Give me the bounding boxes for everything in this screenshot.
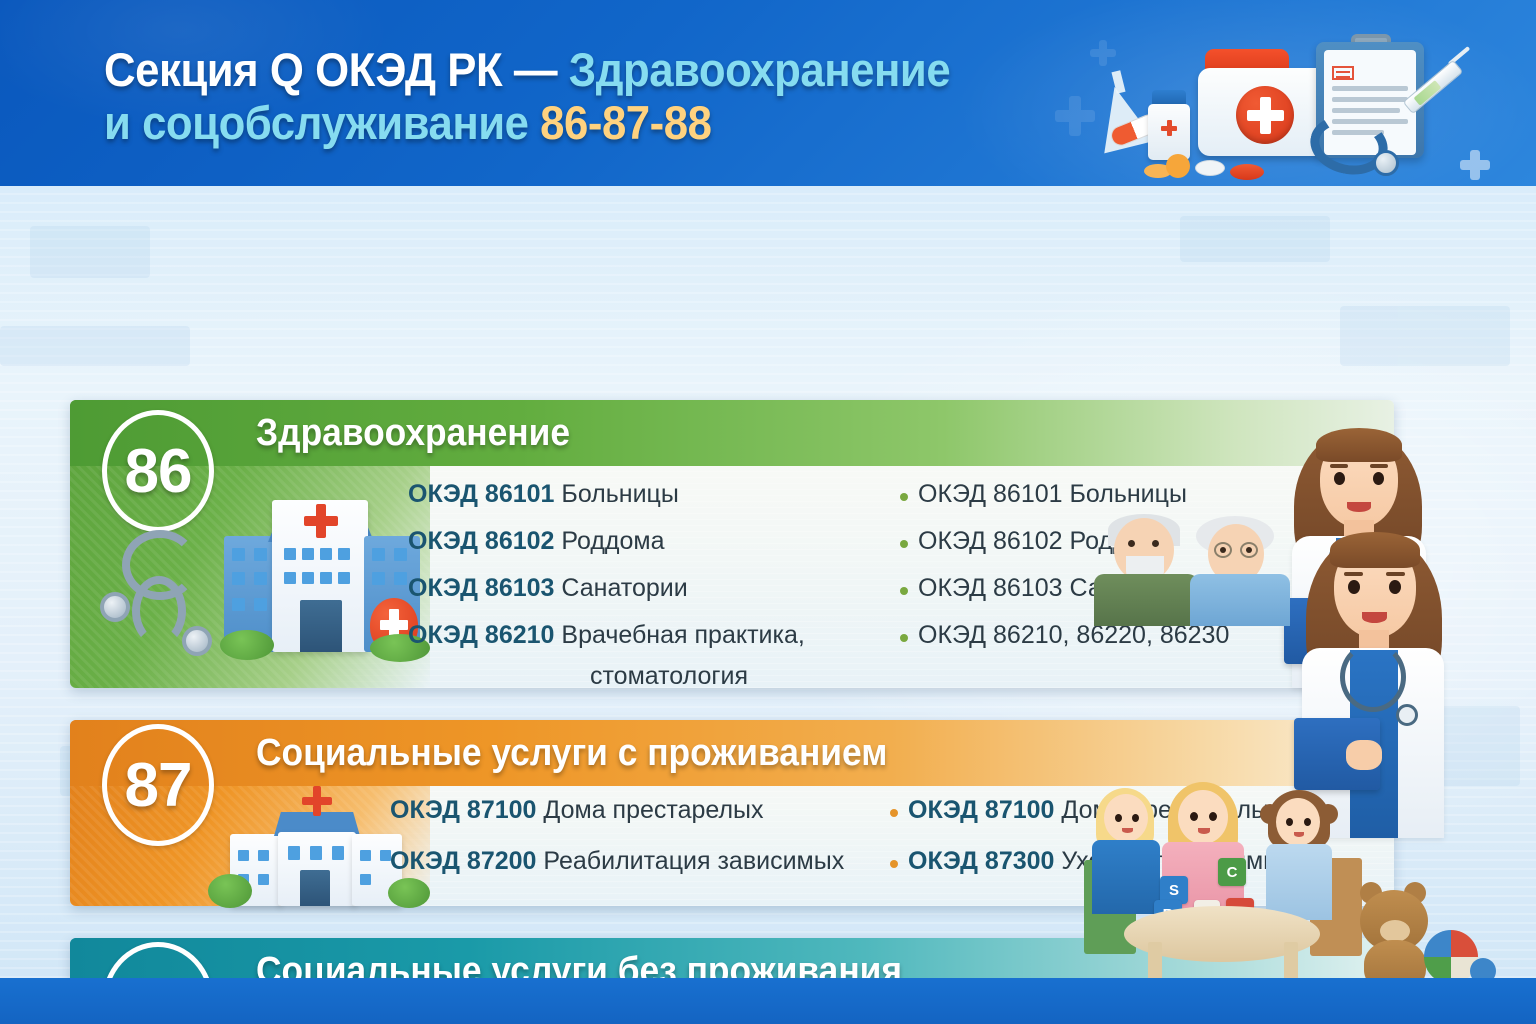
teddy-bear-muzzle [1380, 920, 1410, 942]
oked-code: ОКЭД 86103 [918, 574, 1063, 602]
title-part-white: Секция Q ОКЭД РК — [104, 43, 557, 96]
eye [1304, 818, 1311, 826]
section-number: 87 [125, 750, 192, 821]
section-number: 88 [125, 968, 192, 979]
table-leg [1284, 942, 1298, 978]
oked-code: ОКЭД 87100 [908, 796, 1054, 824]
eye [1128, 540, 1135, 547]
cross-icon [304, 504, 338, 538]
face [1104, 794, 1148, 842]
mouth [1122, 828, 1133, 833]
eyebrow [1344, 572, 1363, 576]
infographic-poster: Секция Q ОКЭД РК — Здравоохранение и соц… [0, 0, 1536, 1024]
hair-bun [1318, 804, 1338, 824]
eyebrow [1370, 464, 1388, 468]
eye [1209, 812, 1217, 821]
title-code-numbers: 86-87-88 [540, 96, 711, 149]
eye [1389, 580, 1401, 594]
paper-line [1332, 97, 1408, 102]
list-item: ОКЭД 86103 Санатории [408, 576, 928, 601]
medical-cross-badge [1236, 86, 1294, 144]
bush-icon [208, 874, 252, 908]
eye [1334, 472, 1345, 485]
eye [1152, 540, 1159, 547]
mouth [1347, 502, 1371, 512]
cross-icon [1161, 120, 1177, 136]
stethoscope-icon [104, 530, 224, 660]
eyebrow [1330, 464, 1348, 468]
bush-icon [220, 630, 274, 660]
hair-front [1316, 428, 1402, 462]
children-playing-illustration: S B C i B [1078, 782, 1478, 972]
oked-desc: Роддома [561, 527, 664, 555]
list-item: ОКЭД 87200 Реабилитация зависимых [390, 849, 950, 874]
stethoscope-head [1396, 704, 1418, 726]
list-item: ОКЭД 86102 Роддома [408, 529, 928, 554]
oked-desc: Реабилитация зависимых [543, 847, 844, 875]
page-title: Секция Q ОКЭД РК — Здравоохранение и соц… [104, 44, 1104, 149]
paper-line [1332, 108, 1400, 113]
mouth [1198, 828, 1210, 834]
stethoscope-icon [1340, 642, 1406, 712]
title-part-accent: Здравоохранение [569, 43, 950, 96]
care-home-illustration [220, 782, 410, 902]
tablet-icon [1230, 164, 1264, 180]
eyebrow [1386, 572, 1405, 576]
paper-line [1332, 86, 1408, 91]
section-number-badge-86: 86 [102, 410, 214, 532]
tablet-icon [1166, 154, 1190, 178]
oked-desc: Больницы [1070, 480, 1187, 508]
oked-code: ОКЭД 86102 [408, 527, 554, 555]
section-title-86: Здравоохранение [256, 412, 570, 455]
section-number-badge-87: 87 [102, 724, 214, 846]
hair-front [1330, 532, 1420, 568]
oked-desc: Врачебная практика, [561, 621, 804, 649]
face [1178, 790, 1228, 844]
oked-code: ОКЭД 86102 [918, 527, 1063, 555]
oked-code: ОКЭД 87300 [908, 847, 1054, 875]
oked-desc: Больницы [561, 480, 678, 508]
list-item: ОКЭД 86210, 86220, 86230 [900, 623, 1320, 648]
oked-code: ОКЭД 86101 [918, 480, 1063, 508]
eye [1286, 818, 1293, 826]
eye [1373, 472, 1384, 485]
mouth [1294, 832, 1304, 837]
stamp-icon [1332, 66, 1354, 80]
oked-code: ОКЭД 86103 [408, 574, 554, 602]
list-item: ОКЭД 86101 Больницы [408, 482, 928, 507]
oked-desc-continuation: стоматология [408, 662, 928, 691]
teddy-bear-body [1364, 940, 1426, 978]
title-part-accent-2: и соцобслуживание [104, 96, 529, 149]
medical-supplies-illustration [1048, 24, 1518, 186]
tablet-icon [1195, 160, 1225, 176]
oked-code: ОКЭД 86210 [408, 621, 554, 649]
table-leg [1148, 942, 1162, 978]
list-item: ОКЭД 86210 Врачебная практика, [408, 623, 928, 648]
hand [1346, 740, 1382, 770]
sweater [1094, 574, 1198, 626]
section-number: 86 [125, 436, 192, 507]
ball-toy [1470, 958, 1496, 978]
section-title-87: Социальные услуги с проживанием [256, 732, 887, 775]
building-door [300, 870, 330, 906]
cross-icon [302, 786, 332, 816]
stethoscope-head [1373, 150, 1399, 176]
oked-code: ОКЭД 87200 [390, 847, 536, 875]
eye [1115, 814, 1122, 822]
poster-header: Секция Q ОКЭД РК — Здравоохранение и соц… [0, 0, 1536, 186]
poster-body: 86 Здравоохранение [0, 186, 1536, 978]
oked-code: ОКЭД 87100 [390, 796, 536, 824]
shirt [1266, 844, 1332, 920]
hospital-building-illustration [220, 478, 430, 678]
eye [1348, 580, 1360, 594]
face [1276, 798, 1320, 846]
list-item: ОКЭД 87100 Дома престарелых [390, 798, 950, 823]
oked-desc: Санатории [561, 574, 687, 602]
eye [1220, 547, 1226, 553]
list-item: ОКЭД 86101 Больницы [900, 482, 1320, 507]
title-line-2: и соцобслуживание 86-87-88 [104, 97, 1034, 150]
eye [1132, 814, 1139, 822]
footer-bar [0, 978, 1536, 1024]
mouth [1362, 612, 1387, 623]
eye [1246, 547, 1252, 553]
oked-code: ОКЭД 86101 [408, 480, 554, 508]
section-87-left-column: ОКЭД 87100 Дома престарелых ОКЭД 87200 Р… [390, 798, 950, 900]
title-line-1: Секция Q ОКЭД РК — Здравоохранение [104, 44, 1034, 97]
oked-desc: Дома престарелых [543, 796, 763, 824]
eye [1190, 812, 1198, 821]
toy-block: C [1218, 858, 1246, 886]
shirt [1092, 840, 1160, 914]
section-title-88: Социальные услуги без проживания [256, 950, 902, 978]
section-86-left-column: ОКЭД 86101 Больницы ОКЭД 86102 Роддома О… [408, 482, 928, 691]
building-door [300, 600, 342, 652]
